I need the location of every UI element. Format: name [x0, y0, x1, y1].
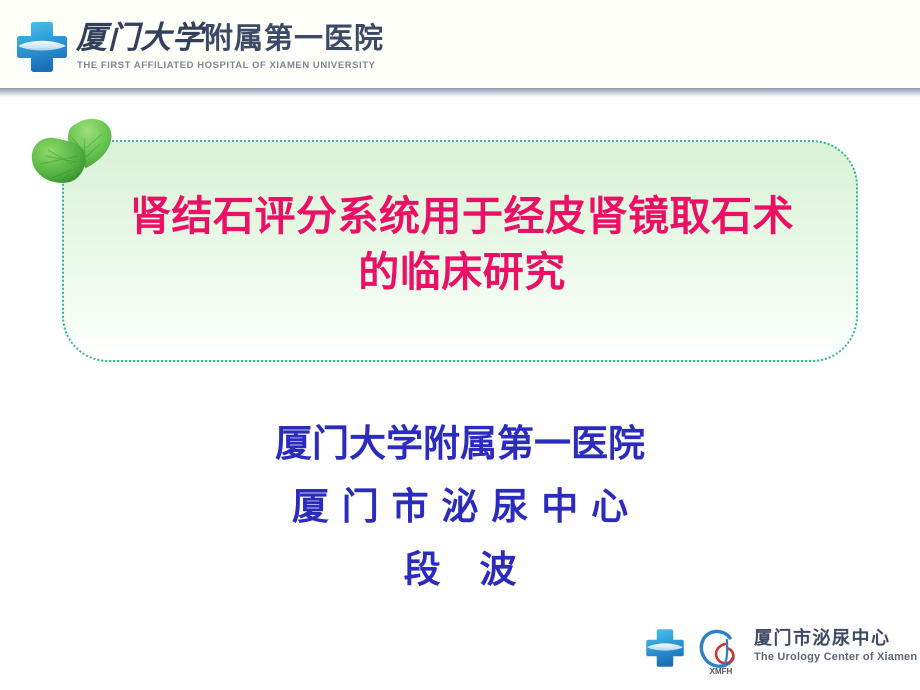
affiliation-line-hospital: 厦门大学附属第一医院: [0, 412, 920, 475]
hospital-name-script: 厦门大学: [76, 20, 204, 56]
slide-title-line-2: 的临床研究: [64, 244, 860, 300]
xmfh-monogram-icon: XMFH: [694, 624, 746, 676]
hospital-logo: 厦门大学附属第一医院 THE FIRST AFFILIATED HOSPITAL…: [14, 17, 334, 79]
green-leaf-icon: [26, 112, 122, 194]
urology-center-name-cn: 厦门市泌尿中心: [754, 628, 914, 650]
hospital-name-cn: 厦门大学附属第一医院: [76, 19, 384, 57]
hospital-name-en: THE FIRST AFFILIATED HOSPITAL OF XIAMEN …: [77, 60, 375, 71]
header-divider: [0, 88, 920, 97]
blue-medical-cross-icon: [14, 19, 70, 75]
blue-medical-cross-icon: [644, 627, 686, 669]
title-callout-box: 肾结石评分系统用于经皮肾镜取石术 的临床研究: [62, 140, 858, 362]
xmfh-abbr-label: XMFH: [710, 667, 733, 676]
urology-center-name-en: The Urology Center of Xiamen: [754, 650, 914, 665]
hospital-name-rest: 附属第一医院: [204, 21, 384, 55]
affiliation-line-center: 厦 门 市 泌 尿 中 心: [0, 475, 920, 538]
footer-logo: XMFH 厦门市泌尿中心 The Urology Center of Xiame…: [644, 622, 906, 678]
presentation-slide: 厦门大学附属第一医院 THE FIRST AFFILIATED HOSPITAL…: [0, 0, 920, 690]
slide-title-line-1: 肾结石评分系统用于经皮肾镜取石术: [64, 188, 860, 244]
footer-logo-text: 厦门市泌尿中心 The Urology Center of Xiamen: [754, 628, 914, 665]
slide-header: 厦门大学附属第一医院 THE FIRST AFFILIATED HOSPITAL…: [0, 0, 920, 90]
slide-title: 肾结石评分系统用于经皮肾镜取石术 的临床研究: [64, 188, 860, 300]
author-name: 段 波: [0, 538, 920, 601]
affiliation-and-author: 厦门大学附属第一医院 厦 门 市 泌 尿 中 心 段 波: [0, 412, 920, 601]
